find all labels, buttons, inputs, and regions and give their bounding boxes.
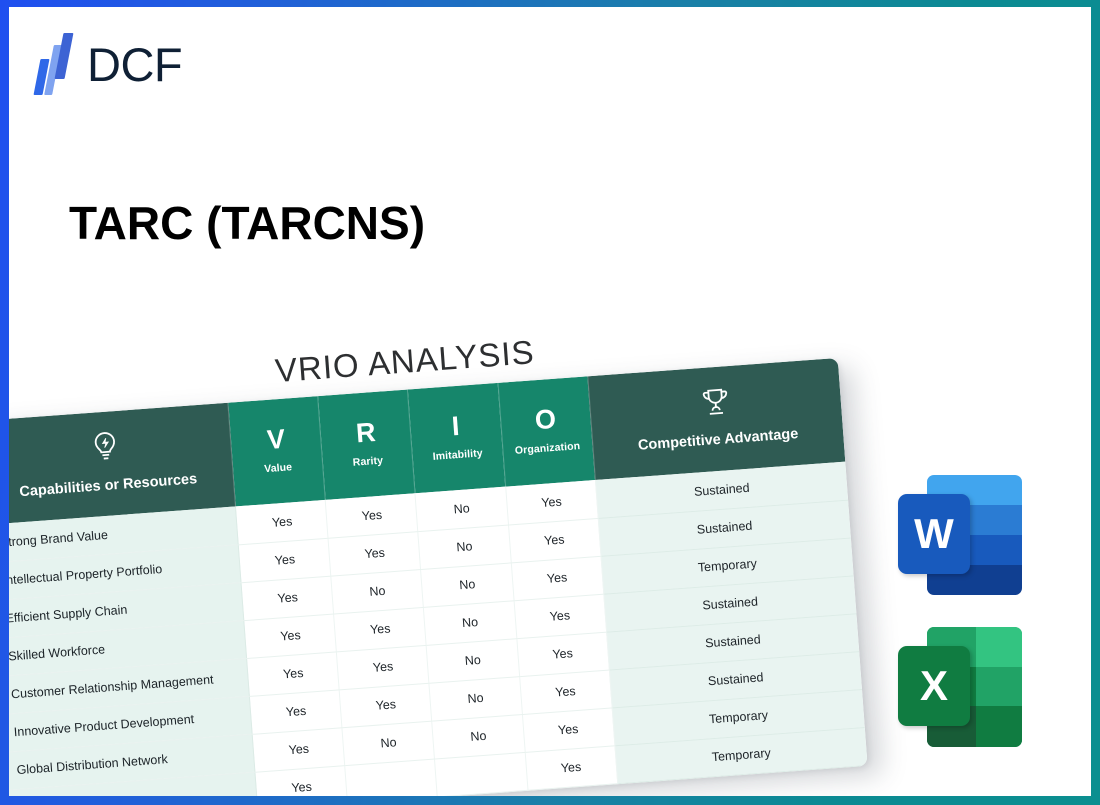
- vrio-table-card: Capabilities or Resources V Value R Rari…: [9, 358, 868, 796]
- column-header-value-label: Value: [237, 459, 319, 477]
- excel-letter-tile: X: [898, 646, 970, 726]
- cell-organization: Yes: [516, 632, 609, 676]
- cell-imitability: No: [421, 562, 514, 606]
- column-header-rarity: R Rarity: [318, 390, 415, 500]
- column-letter-r: R: [324, 417, 407, 450]
- cell-organization: Yes: [514, 594, 607, 638]
- cell-imitability: No: [432, 714, 525, 758]
- column-header-organization: O Organization: [498, 376, 595, 486]
- cell-value: Yes: [239, 538, 332, 582]
- column-letter-o: O: [504, 404, 587, 437]
- vrio-heading: VRIO ANALYSIS: [274, 333, 536, 390]
- word-document-icon[interactable]: W: [894, 467, 1029, 602]
- column-header-advantage: Competitive Advantage: [587, 358, 845, 480]
- cell-organization: Yes: [522, 707, 615, 751]
- vrio-table: Capabilities or Resources V Value R Rari…: [9, 358, 868, 796]
- cell-rarity: Yes: [337, 645, 430, 689]
- cell-rarity: Yes: [340, 683, 433, 727]
- page-canvas: DCF TARC (TARCNS) VRIO ANALYSIS: [9, 7, 1091, 796]
- vrio-card-stage: VRIO ANALYSIS: [9, 305, 890, 796]
- cell-rarity: Yes: [334, 607, 427, 651]
- lightbulb-icon: [9, 421, 228, 477]
- column-header-imitability: I Imitability: [408, 383, 505, 493]
- column-header-imitability-label: Imitability: [417, 446, 499, 464]
- column-letter-i: I: [414, 410, 497, 443]
- trophy-icon: [593, 378, 837, 431]
- page-title: TARC (TARCNS): [69, 196, 425, 250]
- excel-spreadsheet-icon[interactable]: X: [894, 619, 1029, 754]
- cell-organization: Yes: [525, 745, 618, 789]
- cell-value: Yes: [250, 689, 343, 733]
- brand-logo[interactable]: DCF: [37, 33, 182, 95]
- brand-name: DCF: [87, 41, 182, 88]
- cell-imitability: No: [427, 638, 520, 682]
- cell-imitability: [435, 752, 528, 796]
- cell-organization: Yes: [511, 556, 604, 600]
- cell-value: Yes: [241, 576, 334, 620]
- cell-imitability: No: [415, 487, 508, 531]
- cell-rarity: Yes: [328, 531, 421, 575]
- cell-imitability: No: [418, 525, 511, 569]
- cell-rarity: [345, 759, 438, 796]
- column-header-rarity-label: Rarity: [327, 453, 409, 471]
- cell-value: Yes: [253, 727, 346, 771]
- cell-organization: Yes: [505, 480, 598, 524]
- column-header-value: V Value: [228, 396, 325, 506]
- cell-imitability: No: [429, 676, 522, 720]
- cell-imitability: No: [424, 600, 517, 644]
- column-header-organization-label: Organization: [507, 439, 589, 457]
- cell-rarity: No: [342, 721, 435, 765]
- cell-value: Yes: [255, 765, 348, 796]
- cell-value: Yes: [247, 651, 340, 695]
- cell-value: Yes: [236, 500, 329, 544]
- column-header-resource-label: Capabilities or Resources: [9, 468, 230, 504]
- cell-rarity: No: [331, 569, 424, 613]
- page-frame: DCF TARC (TARCNS) VRIO ANALYSIS: [0, 0, 1100, 805]
- cell-organization: Yes: [508, 518, 601, 562]
- word-letter-tile: W: [898, 494, 970, 574]
- cell-rarity: Yes: [326, 493, 419, 537]
- column-header-resource: Capabilities or Resources: [9, 403, 236, 525]
- cell-organization: Yes: [519, 670, 612, 714]
- dcf-bars-logo-icon: [37, 33, 73, 95]
- cell-value: Yes: [244, 614, 337, 658]
- column-letter-v: V: [235, 423, 318, 456]
